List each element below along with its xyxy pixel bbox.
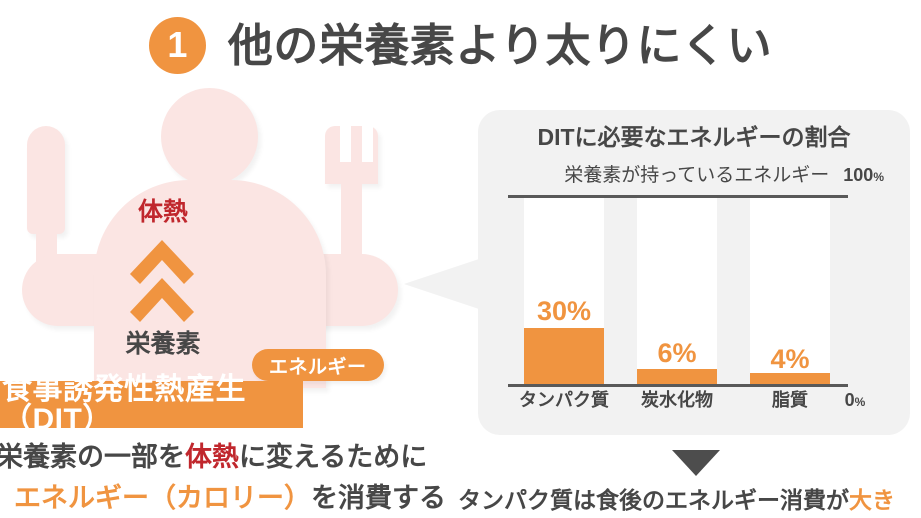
axis-bottom-number: 0 xyxy=(845,390,855,410)
conclusion-highlight: 大き xyxy=(849,487,895,513)
conclusion-caption: タンパク質は食後のエネルギー消費が大き xyxy=(458,489,895,512)
description-text: を消費する xyxy=(311,483,446,513)
description-text: に変えるために xyxy=(239,442,427,472)
person-head xyxy=(161,88,258,185)
bar-column-track: 6% xyxy=(637,198,717,384)
fork-tine-gap-1 xyxy=(340,126,351,162)
chart-subtitle-row: 栄養素が持っているエネルギー 100% xyxy=(508,166,884,185)
axis-top-unit: % xyxy=(873,170,884,184)
bar-column-track: 4% xyxy=(750,198,830,384)
chart-subtitle: 栄養素が持っているエネルギー xyxy=(564,166,829,185)
down-triangle-icon xyxy=(672,450,720,476)
bar-category-label: 炭水化物 xyxy=(621,391,733,409)
axis-top-value: 100% xyxy=(843,166,884,184)
double-chevron-up-icon xyxy=(128,238,196,322)
bar-fill xyxy=(750,373,830,384)
axis-line-bottom xyxy=(508,384,848,387)
speech-bubble-tail xyxy=(404,258,482,310)
bar-column-track: 30% xyxy=(524,198,604,384)
chart-title: DITに必要なエネルギーの割合 xyxy=(478,126,910,149)
bar-value-label: 4% xyxy=(750,346,830,373)
bar-category-label: タンパク質 xyxy=(508,391,620,409)
description-highlight-energy: エネルギー（カロリー） xyxy=(14,483,311,513)
dit-banner: 食事誘発性熱産生（DIT） xyxy=(0,381,303,428)
description-text: 栄養素の一部を xyxy=(0,442,185,472)
description-line-2: エネルギー（カロリー）を消費する xyxy=(14,485,446,512)
infographic-slide: 1 他の栄養素より太りにくい 体熱 栄養素 エネルギー DITに必要なエネルギー… xyxy=(0,0,921,518)
conclusion-text: タンパク質は食後のエネルギー消費が xyxy=(458,487,849,513)
axis-bottom-value: 0% xyxy=(826,391,884,409)
description-highlight-heat: 体熱 xyxy=(185,442,239,472)
illustration-person-eating: 体熱 栄養素 エネルギー xyxy=(0,78,470,388)
bar-value-label: 30% xyxy=(524,298,604,325)
bar-value-label: 6% xyxy=(637,340,717,367)
axis-bottom-unit: % xyxy=(855,395,866,409)
bar-chart-plot: 30% タンパク質 6% 炭水化物 4% 脂質 0% xyxy=(508,195,884,405)
heat-label: 体熱 xyxy=(0,200,326,225)
bar-fill xyxy=(524,328,604,384)
bar-fill xyxy=(637,369,717,384)
fork-tine-gap-2 xyxy=(362,126,373,162)
description-line-1: 栄養素の一部を体熱に変えるために xyxy=(0,444,427,471)
page-title: 他の栄養素より太りにくい xyxy=(228,23,772,68)
axis-top-number: 100 xyxy=(843,165,873,185)
chart-panel: DITに必要なエネルギーの割合 栄養素が持っているエネルギー 100% 30% … xyxy=(478,110,910,435)
title-row: 1 他の栄養素より太りにくい xyxy=(0,8,921,82)
step-number-badge: 1 xyxy=(149,17,206,74)
